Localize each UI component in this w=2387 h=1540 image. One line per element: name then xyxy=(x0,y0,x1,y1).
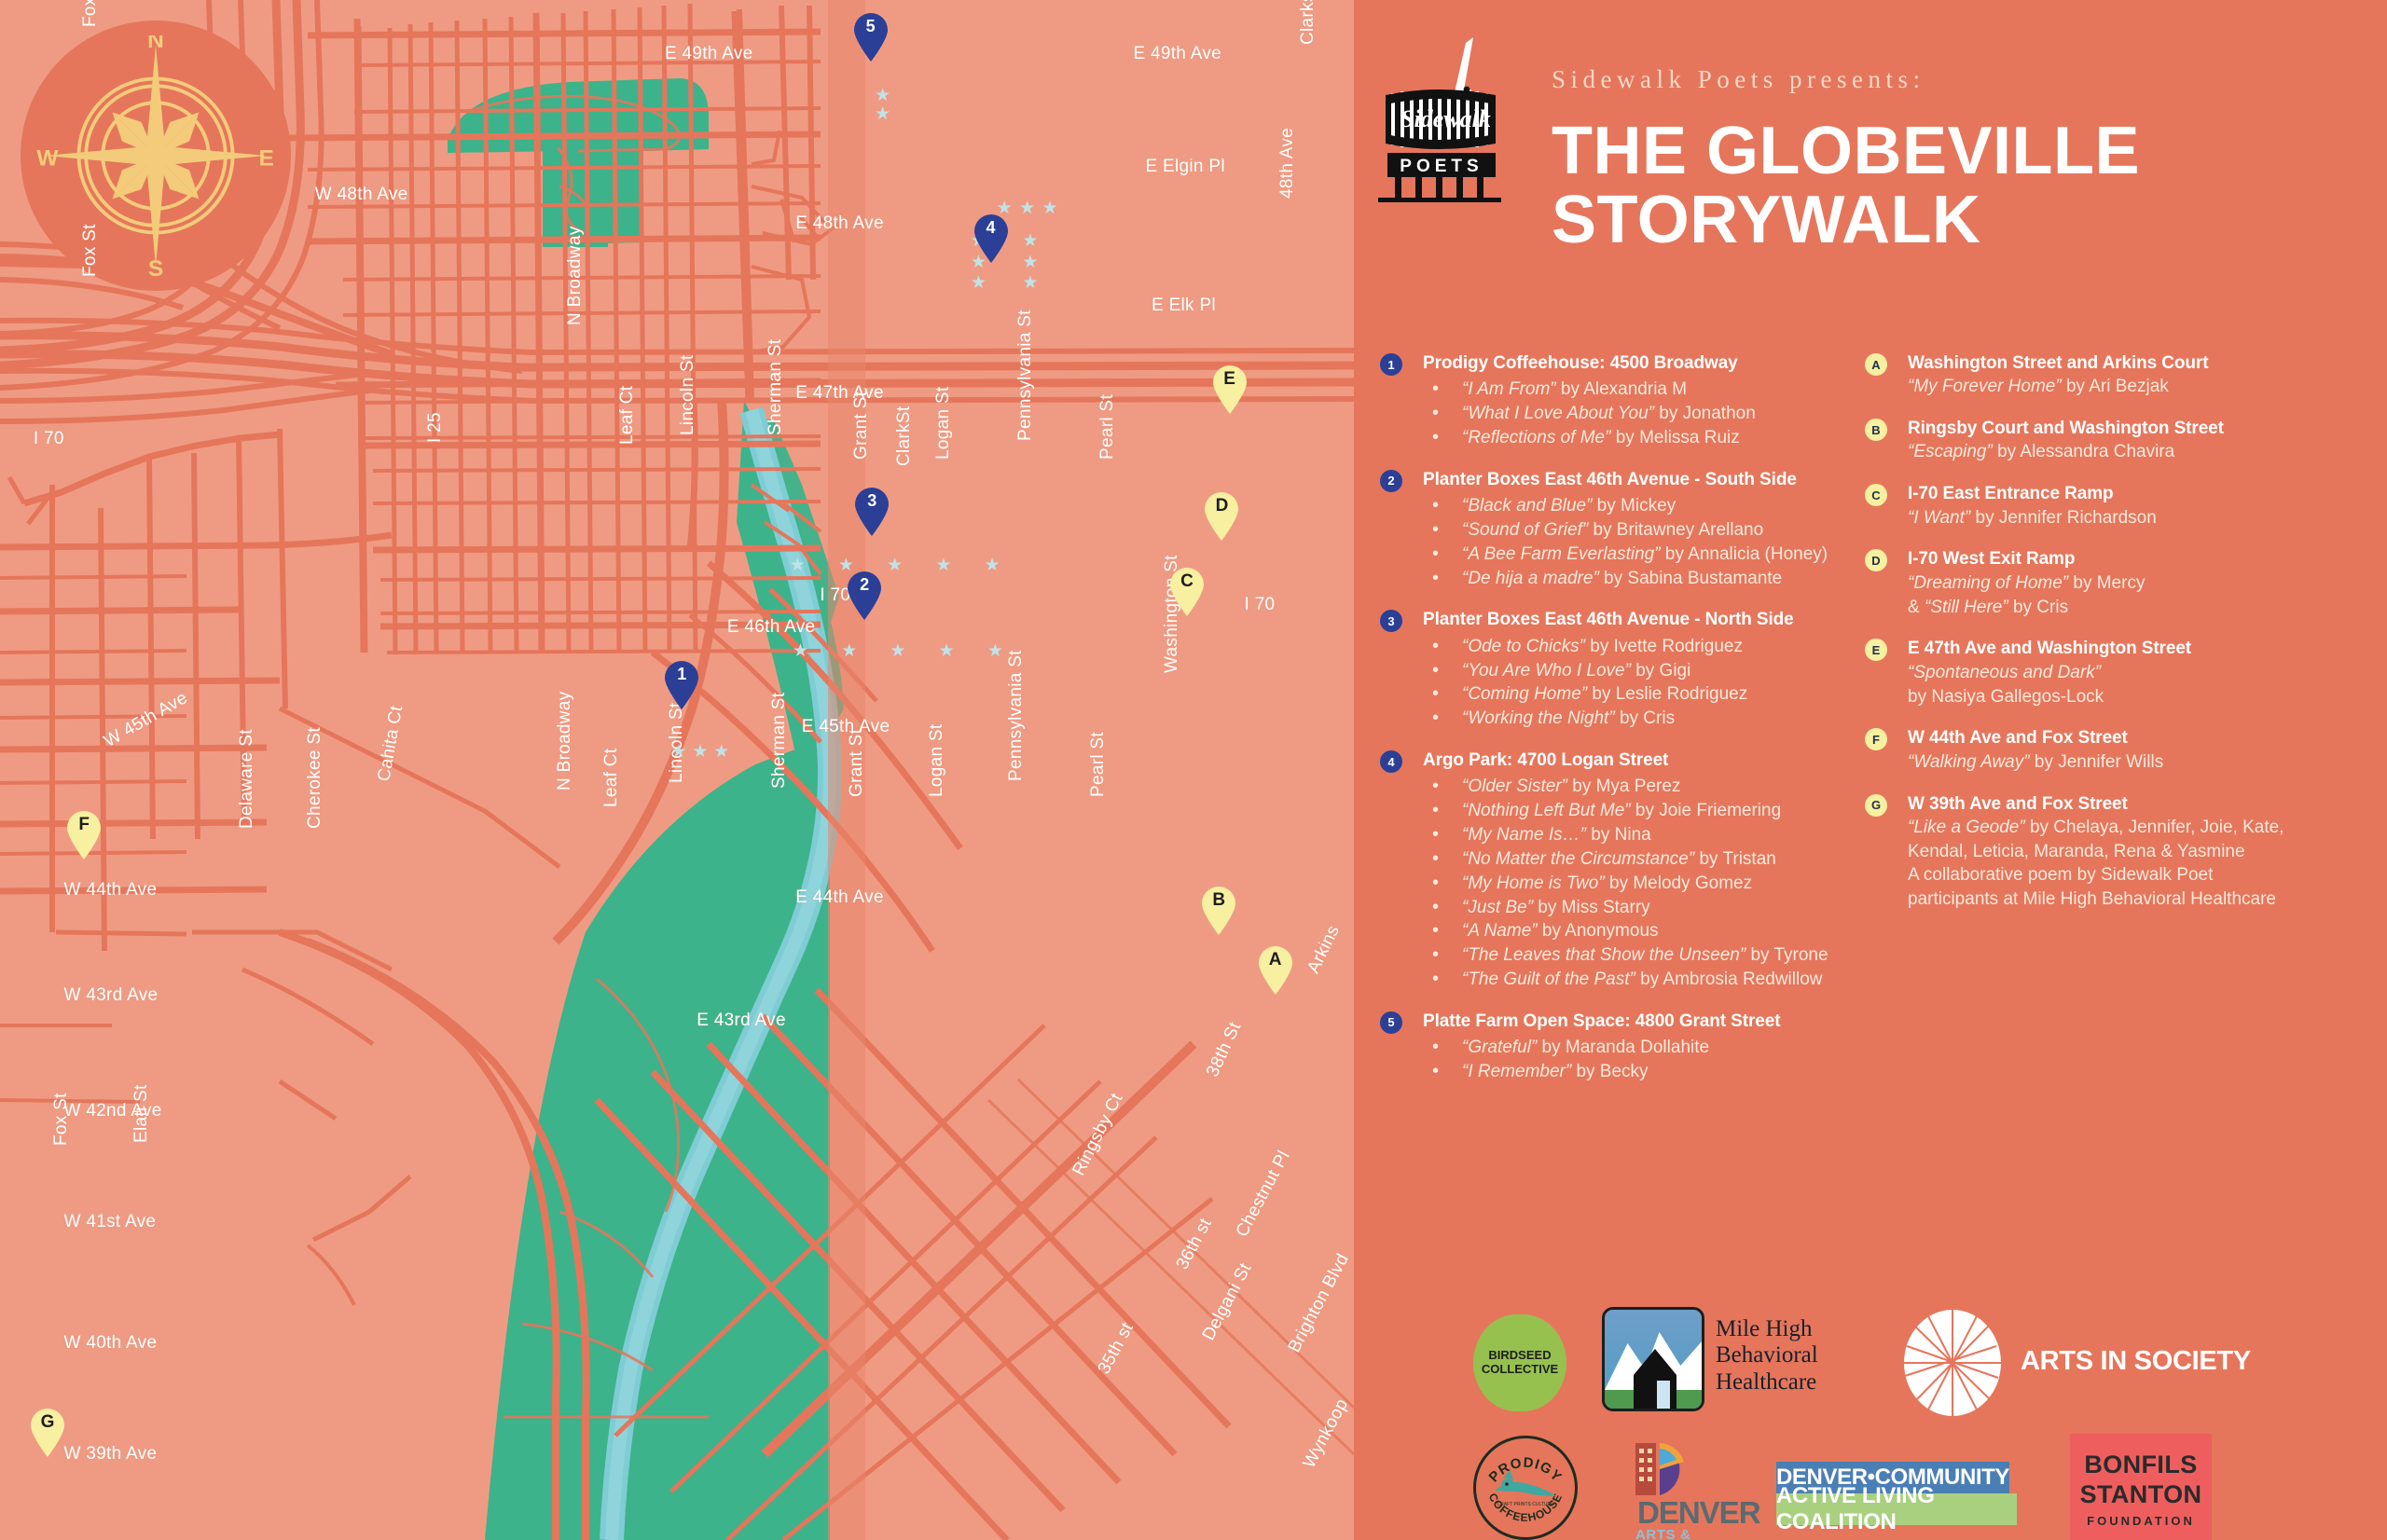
poem-title: “Just Be” xyxy=(1462,898,1533,917)
street-label: E 49th Ave xyxy=(1133,44,1221,64)
poem-author: by Anonymous xyxy=(1538,921,1659,941)
numbered-stop-entry: 4Argo Park: 4700 Logan Street“Older Sist… xyxy=(1380,749,1865,992)
poem-title: “Coming Home” xyxy=(1462,684,1587,704)
denver-arts-venues-logo[interactable]: DENVER ARTS & VENUES xyxy=(1602,1441,1740,1540)
poem-title: “De hija a madre” xyxy=(1462,569,1599,588)
poem-star-icon: ★ xyxy=(985,557,1000,574)
street-label: Logan St xyxy=(933,387,954,460)
street-label: W 40th Ave xyxy=(64,1333,158,1354)
stop-heading: Washington Street and Arkins Court xyxy=(1908,352,2373,375)
stop-letter-badge: E xyxy=(1865,639,1887,661)
logo-block-word: POETS xyxy=(1400,157,1483,176)
dcalc-line2: ACTIVE LIVING COALITION xyxy=(1776,1483,2017,1535)
poem-list-item: “Sound of Grief” by Britawney Arellano xyxy=(1423,518,1865,543)
street-label: Lincoln St xyxy=(678,354,698,434)
birdseed-collective-logo[interactable]: BIRDSEED COLLECTIVE xyxy=(1473,1314,1566,1411)
street-label: Cherokee St xyxy=(305,727,325,829)
poem-star-icon: ★ xyxy=(987,642,1003,660)
street-label: Sherman St xyxy=(766,339,786,435)
lettered-stop-entry: DI-70 West Exit Ramp“Dreaming of Home” b… xyxy=(1865,548,2373,619)
poem-star-icon: ★ xyxy=(713,743,729,761)
map-pin-F[interactable]: F xyxy=(65,810,103,860)
poem-list-item: “Grateful” by Maranda Dollahite xyxy=(1423,1036,1865,1060)
poem-title: “You Are Who I Love” xyxy=(1462,661,1631,681)
map-pin-D[interactable]: D xyxy=(1203,491,1240,542)
poem-list-item: “A Name” by Anonymous xyxy=(1423,919,1865,943)
poem-author: by Mickey xyxy=(1592,496,1676,516)
street-label: I 70 xyxy=(1245,595,1276,615)
stop-heading: E 47th Ave and Washington Street xyxy=(1908,638,2373,660)
street-label: W 43rd Ave xyxy=(64,985,159,1006)
poem-star-icon: ★ xyxy=(1019,199,1035,217)
street-label: N Broadway xyxy=(565,227,586,326)
poem-star-icon: ★ xyxy=(790,557,806,574)
poem-line: “Like a Geode” by Chelaya, Jennifer, Joi… xyxy=(1908,816,2373,840)
poem-author: by Cris xyxy=(2008,598,2068,617)
poem-list-item: “Coming Home” by Leslie Rodriguez xyxy=(1423,682,1865,707)
poem-title: “Sound of Grief” xyxy=(1462,520,1588,540)
poem-star-icon: ★ xyxy=(1022,232,1038,250)
poem-author: by Britawney Arellano xyxy=(1588,520,1763,540)
street-label: E 46th Ave xyxy=(727,617,816,638)
lettered-stop-entry: CI-70 East Entrance Ramp“I Want” by Jenn… xyxy=(1865,483,2373,529)
stop-letter-badge: B xyxy=(1865,419,1887,441)
poem-title: “Like a Geode” xyxy=(1908,818,2025,837)
stop-heading: Platte Farm Open Space: 4800 Grant Stree… xyxy=(1423,1011,1865,1033)
street-label: I 70 xyxy=(34,429,64,449)
street-label: Fox St xyxy=(80,224,101,277)
poem-conjunction: & xyxy=(1908,598,1925,617)
map-pin-B[interactable]: B xyxy=(1200,886,1237,936)
poem-author: by Tristan xyxy=(1694,849,1776,869)
street-label: Delaware St xyxy=(237,729,257,829)
poem-line: “Dreaming of Home” by Mercy xyxy=(1908,571,2373,596)
street-label: Pennsylvania St xyxy=(1015,310,1036,442)
street-label: I 25 xyxy=(425,412,446,443)
poem-title: “The Leaves that Show the Unseen” xyxy=(1462,945,1745,965)
stop-letter-badge: A xyxy=(1865,353,1887,376)
poem-author: by Ari Bezjak xyxy=(2062,377,2169,396)
map-pin-5[interactable]: 5 xyxy=(852,12,890,62)
poem-author: participants at Mile High Behavioral Hea… xyxy=(1908,889,2276,909)
poem-star-icon: ★ xyxy=(887,557,903,574)
mhbh-wordmark: Mile High Behavioral Healthcare xyxy=(1716,1316,1818,1396)
stop-heading: I-70 East Entrance Ramp xyxy=(1908,483,2373,505)
poem-author: by Becky xyxy=(1571,1062,1648,1081)
svg-text:PRODIGY: PRODIGY xyxy=(1486,1455,1566,1486)
street-label: Logan St xyxy=(927,723,947,796)
poem-list-item: “Working the Night” by Cris xyxy=(1423,707,1865,731)
poem-line: participants at Mile High Behavioral Hea… xyxy=(1908,887,2373,912)
map-pin-A[interactable]: A xyxy=(1257,945,1294,996)
birdseed-line2: COLLECTIVE xyxy=(1482,1362,1558,1376)
street-label: ClarkSt xyxy=(894,406,915,465)
poem-list: “Black and Blue” by Mickey“Sound of Grie… xyxy=(1423,494,1865,590)
poem-author: by Gigi xyxy=(1631,661,1690,681)
poem-author: by Nasiya Gallegos-Lock xyxy=(1908,687,2104,707)
arts-in-society-logo[interactable]: ARTS IN SOCIETY xyxy=(1897,1309,2215,1417)
bonfils-stanton-foundation-logo[interactable]: BONFILS STANTON FOUNDATION xyxy=(2070,1434,2212,1540)
poem-author: by Mercy xyxy=(2068,573,2145,593)
street-label: Grant St xyxy=(851,392,872,460)
poem-star-icon: ★ xyxy=(670,743,686,761)
poem-list-item: “Black and Blue” by Mickey xyxy=(1423,494,1865,518)
numbered-stop-entry: 5Platte Farm Open Space: 4800 Grant Stre… xyxy=(1380,1011,1865,1084)
birdseed-line1: BIRDSEED xyxy=(1488,1348,1551,1362)
lettered-stop-entry: GW 39th Ave and Fox Street“Like a Geode”… xyxy=(1865,793,2373,913)
map-pin-G[interactable]: G xyxy=(29,1408,66,1458)
logo-script-word: Sidewalk xyxy=(1400,105,1491,132)
stop-heading: W 39th Ave and Fox Street xyxy=(1908,793,2373,816)
lettered-stop-entry: EE 47th Ave and Washington Street“Sponta… xyxy=(1865,638,2373,708)
poem-title: “Grateful” xyxy=(1462,1038,1537,1057)
poem-title: “Escaping” xyxy=(1908,442,1993,461)
poem-star-icon: ★ xyxy=(939,642,955,660)
poem-title: “Older Sister” xyxy=(1462,777,1567,796)
poem-star-icon: ★ xyxy=(1042,199,1058,217)
poem-author: by Miss Starry xyxy=(1533,898,1650,917)
street-label: Fox St xyxy=(80,0,101,27)
mhbh-line3: Healthcare xyxy=(1716,1369,1818,1396)
poem-author: by Cris xyxy=(1615,708,1675,728)
poem-title: “Spontaneous and Dark” xyxy=(1908,663,2101,682)
poem-list-item: “Reflections of Me” by Melissa Ruiz xyxy=(1423,426,1865,450)
poem-title: “My Home is Two” xyxy=(1462,873,1605,893)
poem-title: “Nothing Left But Me” xyxy=(1462,801,1631,820)
poem-line: Kendal, Leticia, Maranda, Rena & Yasmine xyxy=(1908,840,2373,864)
street-label: Leaf Ct xyxy=(617,385,638,444)
poem-author: by Chelaya, Jennifer, Joie, Kate, xyxy=(2025,818,2284,837)
poem-star-icon: ★ xyxy=(875,105,890,123)
poem-list-item: “My Name Is…” by Nina xyxy=(1423,823,1865,847)
map-pin-E[interactable]: E xyxy=(1211,364,1249,415)
street-label: 48th Ave xyxy=(1277,128,1298,199)
poem-author: by Tyrone xyxy=(1745,945,1828,965)
stop-heading: Planter Boxes East 46th Avenue - North S… xyxy=(1423,609,1865,631)
poem-list-item: “Ode to Chicks” by Ivette Rodriguez xyxy=(1423,635,1865,659)
poem-author: by Alexandria M xyxy=(1556,379,1687,399)
lettered-stop-column: AWashington Street and Arkins Court“My F… xyxy=(1865,352,2373,930)
poem-star-icon: ★ xyxy=(841,642,857,660)
stop-heading: Planter Boxes East 46th Avenue - South S… xyxy=(1423,469,1865,491)
stop-number-badge: 1 xyxy=(1380,353,1402,376)
poem-title: “Working the Night” xyxy=(1462,708,1615,728)
poem-line: “My Forever Home” by Ari Bezjak xyxy=(1908,375,2373,399)
poem-star-icon: ★ xyxy=(890,642,905,660)
street-label: E 49th Ave xyxy=(665,44,753,64)
stop-heading: Prodigy Coffeehouse: 4500 Broadway xyxy=(1423,352,1865,375)
numbered-stop-entry: 1Prodigy Coffeehouse: 4500 Broadway“I Am… xyxy=(1380,352,1865,450)
street-label: Pearl St xyxy=(1097,394,1118,460)
poem-title: “I Am From” xyxy=(1462,379,1556,399)
poem-line: & “Still Here” by Cris xyxy=(1908,596,2373,620)
page-title-line2: STORYWALK xyxy=(1552,186,2140,254)
poem-list-item: “You Are Who I Love” by Gigi xyxy=(1423,659,1865,683)
sidewalk-poets-logo-icon: Sidewalk POETS xyxy=(1373,35,1522,203)
street-label: Fox St xyxy=(51,1093,72,1146)
poem-author: by Joie Friemering xyxy=(1631,801,1782,820)
poem-author: Kendal, Leticia, Maranda, Rena & Yasmine xyxy=(1908,842,2245,861)
denver-community-active-living-coalition-logo[interactable]: DENVER•COMMUNITY ACTIVE LIVING COALITION xyxy=(1776,1462,2017,1527)
poem-author: by Maranda Dollahite xyxy=(1537,1038,1709,1057)
poem-title: “A Name” xyxy=(1462,921,1538,941)
poem-list-item: “No Matter the Circumstance” by Tristan xyxy=(1423,847,1865,872)
street-label: W 44th Ave xyxy=(64,880,158,901)
stop-letter-badge: C xyxy=(1865,484,1887,506)
stop-letter-badge: D xyxy=(1865,549,1887,571)
map-panel[interactable]: N E S W Fox StFox StW 48th AveI 25I 70E … xyxy=(0,0,1354,1540)
poem-list-item: “De hija a madre” by Sabina Bustamante xyxy=(1423,567,1865,591)
street-label: E 44th Ave xyxy=(795,887,884,908)
street-label: Pearl St xyxy=(1088,732,1109,797)
poem-title: “I Want” xyxy=(1908,508,1970,528)
poem-line: “Spontaneous and Dark” xyxy=(1908,661,2373,685)
poem-list-item: “What I Love About You” by Jonathon xyxy=(1423,402,1865,426)
compass-north: N xyxy=(147,35,164,53)
poem-star-icon: ★ xyxy=(971,274,987,292)
street-label: W 48th Ave xyxy=(315,185,408,205)
poem-author: by Alessandra Chavira xyxy=(1993,442,2174,461)
poem-author: by Annalicia (Honey) xyxy=(1661,544,1828,564)
map-pin-3[interactable]: 3 xyxy=(853,487,890,537)
prodigy-tagline: CRAFT PRINTS CULTURE xyxy=(1497,1502,1555,1507)
poem-line: A collaborative poem by Sidewalk Poet xyxy=(1908,863,2373,887)
compass-east: E xyxy=(259,145,274,171)
map-pin-4[interactable]: 4 xyxy=(973,213,1010,264)
mhbh-line1: Mile High xyxy=(1716,1316,1818,1342)
arts-in-society-web-icon xyxy=(1897,1309,2008,1417)
poem-title: “Reflections of Me” xyxy=(1462,428,1610,447)
street-label: E 43rd Ave xyxy=(697,1011,786,1031)
poem-star-icon: ★ xyxy=(935,557,951,574)
presents-line: Sidewalk Poets presents: xyxy=(1552,65,1925,94)
stop-heading: Ringsby Court and Washington Street xyxy=(1908,418,2373,440)
poem-title: “Still Here” xyxy=(1925,598,2008,617)
poem-author: by Jennifer Richardson xyxy=(1970,508,2157,528)
poem-list-item: “I Am From” by Alexandria M xyxy=(1423,378,1865,402)
poem-line: “Escaping” by Alessandra Chavira xyxy=(1908,440,2373,464)
street-label: Pennsylvania St xyxy=(1006,650,1027,781)
stop-letter-badge: G xyxy=(1865,794,1887,817)
denver-subtitle: ARTS & VENUES xyxy=(1635,1527,1740,1540)
poem-author: by Ambrosia Redwillow xyxy=(1635,969,1823,989)
page-title-line1: THE GLOBEVILLE xyxy=(1552,114,2140,188)
poem-star-icon: ★ xyxy=(1022,274,1038,292)
poem-title: “No Matter the Circumstance” xyxy=(1462,849,1694,869)
stop-number-badge: 4 xyxy=(1380,750,1402,773)
stop-number-badge: 2 xyxy=(1380,470,1402,492)
poem-list-item: “A Bee Farm Everlasting” by Annalicia (H… xyxy=(1423,543,1865,567)
compass-rose: N E S W xyxy=(21,21,291,291)
poem-title: “Black and Blue” xyxy=(1462,496,1592,516)
street-label: Elati St xyxy=(131,1084,152,1143)
denver-d-icon xyxy=(1628,1441,1706,1497)
poem-list-item: “Just Be” by Miss Starry xyxy=(1423,896,1865,920)
poem-title: “The Guilt of the Past” xyxy=(1462,969,1635,989)
poem-title: “I Remember” xyxy=(1462,1062,1571,1081)
stop-letter-badge: F xyxy=(1865,728,1887,750)
poem-star-icon: ★ xyxy=(692,743,708,761)
mhbh-line2: Behavioral xyxy=(1716,1342,1818,1368)
poem-list-item: “The Guilt of the Past” by Ambrosia Redw… xyxy=(1423,968,1865,992)
page-title: THE GLOBEVILLE STORYWALK xyxy=(1552,117,2140,254)
stop-number-badge: 3 xyxy=(1380,610,1402,632)
poem-list: “I Am From” by Alexandria M“What I Love … xyxy=(1423,378,1865,449)
lettered-stop-entry: FW 44th Ave and Fox Street“Walking Away”… xyxy=(1865,727,2373,774)
denver-wordmark: DENVER xyxy=(1637,1495,1760,1531)
poem-list-item: “My Home is Two” by Melody Gomez xyxy=(1423,872,1865,896)
poem-author: by Mya Perez xyxy=(1567,777,1680,796)
poem-author: A collaborative poem by Sidewalk Poet xyxy=(1908,865,2213,885)
poem-title: “Walking Away” xyxy=(1908,752,2030,772)
lettered-stop-entry: BRingsby Court and Washington Street“Esc… xyxy=(1865,418,2373,464)
arts-in-society-wordmark: ARTS IN SOCIETY xyxy=(2021,1346,2251,1377)
poem-list: “Ode to Chicks” by Ivette Rodriguez“You … xyxy=(1423,635,1865,731)
map-pin-C[interactable]: C xyxy=(1168,567,1206,617)
poem-line: “I Want” by Jennifer Richardson xyxy=(1908,506,2373,530)
poem-author: by Nina xyxy=(1586,825,1651,845)
street-label: W 39th Ave xyxy=(64,1444,158,1464)
poem-list-item: “The Leaves that Show the Unseen” by Tyr… xyxy=(1423,943,1865,968)
numbered-stop-entry: 3Planter Boxes East 46th Avenue - North … xyxy=(1380,609,1865,731)
mile-high-behavioral-healthcare-logo[interactable]: Mile High Behavioral Healthcare xyxy=(1602,1305,1882,1419)
stop-number-badge: 5 xyxy=(1380,1011,1402,1034)
poem-author: by Jonathon xyxy=(1654,404,1756,423)
poem-author: by Sabina Bustamante xyxy=(1599,569,1782,588)
poem-line: by Nasiya Gallegos-Lock xyxy=(1908,685,2373,709)
poem-star-icon: ★ xyxy=(793,642,808,660)
street-label: Leaf Ct xyxy=(601,749,622,807)
poem-list: “Older Sister” by Mya Perez“Nothing Left… xyxy=(1423,775,1865,991)
street-label: E 48th Ave xyxy=(795,213,884,234)
poem-title: “My Forever Home” xyxy=(1908,377,2062,396)
compass-west: W xyxy=(36,145,59,171)
prodigy-top-text: PRODIGY xyxy=(1486,1455,1566,1486)
map-pin-2[interactable]: 2 xyxy=(846,571,883,621)
stop-heading: Argo Park: 4700 Logan Street xyxy=(1423,749,1865,772)
compass-south: S xyxy=(148,256,163,276)
poem-list-item: “Nothing Left But Me” by Joie Friemering xyxy=(1423,799,1865,823)
bonfils-line3: FOUNDATION xyxy=(2070,1514,2212,1528)
street-label: Sherman St xyxy=(769,693,790,789)
street-label: E Elgin Pl xyxy=(1145,157,1224,177)
poem-star-icon: ★ xyxy=(1022,254,1038,271)
poem-author: by Leslie Rodriguez xyxy=(1587,684,1747,704)
poem-line: “Walking Away” by Jennifer Wills xyxy=(1908,750,2373,775)
poem-title: “Ode to Chicks” xyxy=(1462,637,1585,656)
lettered-stop-entry: AWashington Street and Arkins Court“My F… xyxy=(1865,352,2373,399)
numbered-stop-entry: 2Planter Boxes East 46th Avenue - South … xyxy=(1380,469,1865,591)
prodigy-coffeehouse-logo[interactable]: PRODIGY COFFEEHOUSE CRAFT PRINTS CULTURE xyxy=(1473,1436,1578,1540)
stop-heading: W 44th Ave and Fox Street xyxy=(1908,727,2373,749)
storywalk-poster: N E S W Fox StFox StW 48th AveI 25I 70E … xyxy=(0,0,2387,1540)
street-label: W 41st Ave xyxy=(64,1212,157,1232)
numbered-stop-column: 1Prodigy Coffeehouse: 4500 Broadway“I Am… xyxy=(1380,352,1865,1103)
poem-list-item: “Older Sister” by Mya Perez xyxy=(1423,775,1865,799)
bonfils-line1: BONFILS xyxy=(2070,1451,2212,1479)
poem-author: by Jennifer Wills xyxy=(2030,752,2164,772)
poem-author: by Ivette Rodriguez xyxy=(1585,637,1743,656)
poem-star-icon: ★ xyxy=(875,87,890,104)
street-label: N Broadway xyxy=(555,692,575,791)
poem-title: “A Bee Farm Everlasting” xyxy=(1462,544,1661,564)
poem-title: “My Name Is…” xyxy=(1462,825,1586,845)
poem-title: “What I Love About You” xyxy=(1462,404,1654,423)
street-label: E Elk Pl xyxy=(1152,296,1216,316)
street-label: Grant St xyxy=(847,728,867,796)
map-pin-1[interactable]: 1 xyxy=(663,660,700,710)
poem-list-item: “I Remember” by Becky xyxy=(1423,1060,1865,1084)
poem-author: by Melissa Ruiz xyxy=(1610,428,1739,447)
poem-list: “Grateful” by Maranda Dollahite“I Rememb… xyxy=(1423,1036,1865,1084)
poem-title: “Dreaming of Home” xyxy=(1908,573,2068,593)
poster-header: Sidewalk POETS Sidewalk Poets prese xyxy=(1354,0,2387,308)
poem-author: by Melody Gomez xyxy=(1605,873,1752,893)
mhbh-mark-icon xyxy=(1602,1307,1704,1411)
stop-heading: I-70 West Exit Ramp xyxy=(1908,548,2373,571)
street-label: Clarkson St xyxy=(1298,0,1318,45)
bonfils-line2: STANTON xyxy=(2070,1480,2212,1509)
